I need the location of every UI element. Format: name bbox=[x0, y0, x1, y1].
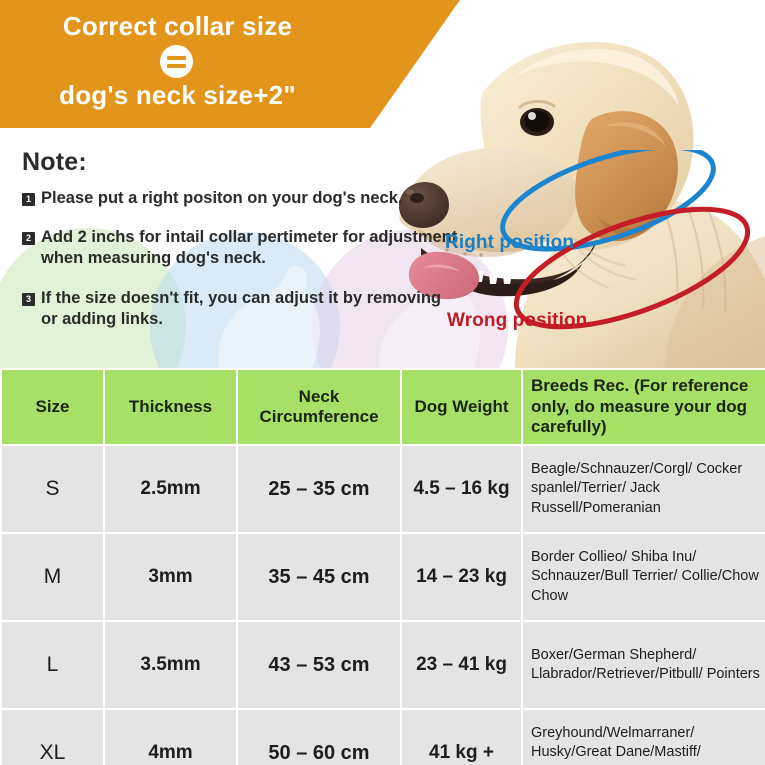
cell-size: L bbox=[2, 622, 103, 708]
note-bullet-number: 2 bbox=[22, 232, 35, 245]
column-header-breeds: Breeds Rec. (For reference only, do meas… bbox=[523, 370, 765, 444]
wrong-position-label: Wrong position bbox=[447, 310, 587, 332]
cell-thickness: 3mm bbox=[105, 534, 236, 620]
table-row: M 3mm 35 – 45 cm 14 – 23 kg Border Colli… bbox=[2, 534, 765, 620]
cell-neck: 43 – 53 cm bbox=[238, 622, 400, 708]
banner-line-2: dog's neck size+2" bbox=[0, 82, 355, 108]
column-header-size: Size bbox=[2, 370, 103, 444]
cell-breeds: Greyhound/Welmarraner/ Husky/Great Dane/… bbox=[523, 710, 765, 765]
cell-weight: 4.5 – 16 kg bbox=[402, 446, 521, 532]
cell-neck: 50 – 60 cm bbox=[238, 710, 400, 765]
size-chart-table: Size Thickness Neck Circumference Dog We… bbox=[0, 368, 765, 765]
note-item-text: If the size doesn't fit, you can adjust … bbox=[41, 288, 461, 330]
note-item-text: Add 2 inchs for intail collar pertimeter… bbox=[41, 227, 461, 269]
right-position-label: Right position bbox=[445, 232, 574, 254]
note-item: 3 If the size doesn't fit, you can adjus… bbox=[22, 288, 461, 330]
cell-neck: 35 – 45 cm bbox=[238, 534, 400, 620]
note-item: 2 Add 2 inchs for intail collar pertimet… bbox=[22, 227, 461, 269]
cell-thickness: 3.5mm bbox=[105, 622, 236, 708]
table-row: XL 4mm 50 – 60 cm 41 kg + Greyhound/Welm… bbox=[2, 710, 765, 765]
column-header-neck: Neck Circumference bbox=[238, 370, 400, 444]
cell-size: XL bbox=[2, 710, 103, 765]
note-item-text: Please put a right positon on your dog's… bbox=[41, 188, 402, 209]
equals-badge-icon bbox=[160, 45, 193, 78]
table-row: S 2.5mm 25 – 35 cm 4.5 – 16 kg Beagle/Sc… bbox=[2, 446, 765, 532]
cell-breeds: Beagle/Schnauzer/Corgl/ Cocker spanlel/T… bbox=[523, 446, 765, 532]
cell-weight: 14 – 23 kg bbox=[402, 534, 521, 620]
cell-weight: 23 – 41 kg bbox=[402, 622, 521, 708]
banner-line-1: Correct collar size bbox=[0, 13, 355, 39]
cell-thickness: 4mm bbox=[105, 710, 236, 765]
table-header-row: Size Thickness Neck Circumference Dog We… bbox=[2, 370, 765, 444]
cell-breeds: Border Collieo/ Shiba Inu/ Schnauzer/Bul… bbox=[523, 534, 765, 620]
cell-size: M bbox=[2, 534, 103, 620]
note-title: Note: bbox=[22, 148, 87, 177]
table-row: L 3.5mm 43 – 53 cm 23 – 41 kg Boxer/Germ… bbox=[2, 622, 765, 708]
neck-measurement-rings bbox=[420, 150, 765, 365]
collar-size-chart-infographic: Correct collar size dog's neck size+2" N… bbox=[0, 0, 765, 765]
column-header-thickness: Thickness bbox=[105, 370, 236, 444]
header-banner: Correct collar size dog's neck size+2" bbox=[0, 0, 460, 128]
column-header-weight: Dog Weight bbox=[402, 370, 521, 444]
cell-thickness: 2.5mm bbox=[105, 446, 236, 532]
cell-size: S bbox=[2, 446, 103, 532]
cell-neck: 25 – 35 cm bbox=[238, 446, 400, 532]
cell-breeds: Boxer/German Shepherd/ Llabrador/Retriev… bbox=[523, 622, 765, 708]
note-bullet-number: 3 bbox=[22, 293, 35, 306]
cell-weight: 41 kg + bbox=[402, 710, 521, 765]
note-bullet-number: 1 bbox=[22, 193, 35, 206]
note-item: 1 Please put a right positon on your dog… bbox=[22, 188, 402, 209]
